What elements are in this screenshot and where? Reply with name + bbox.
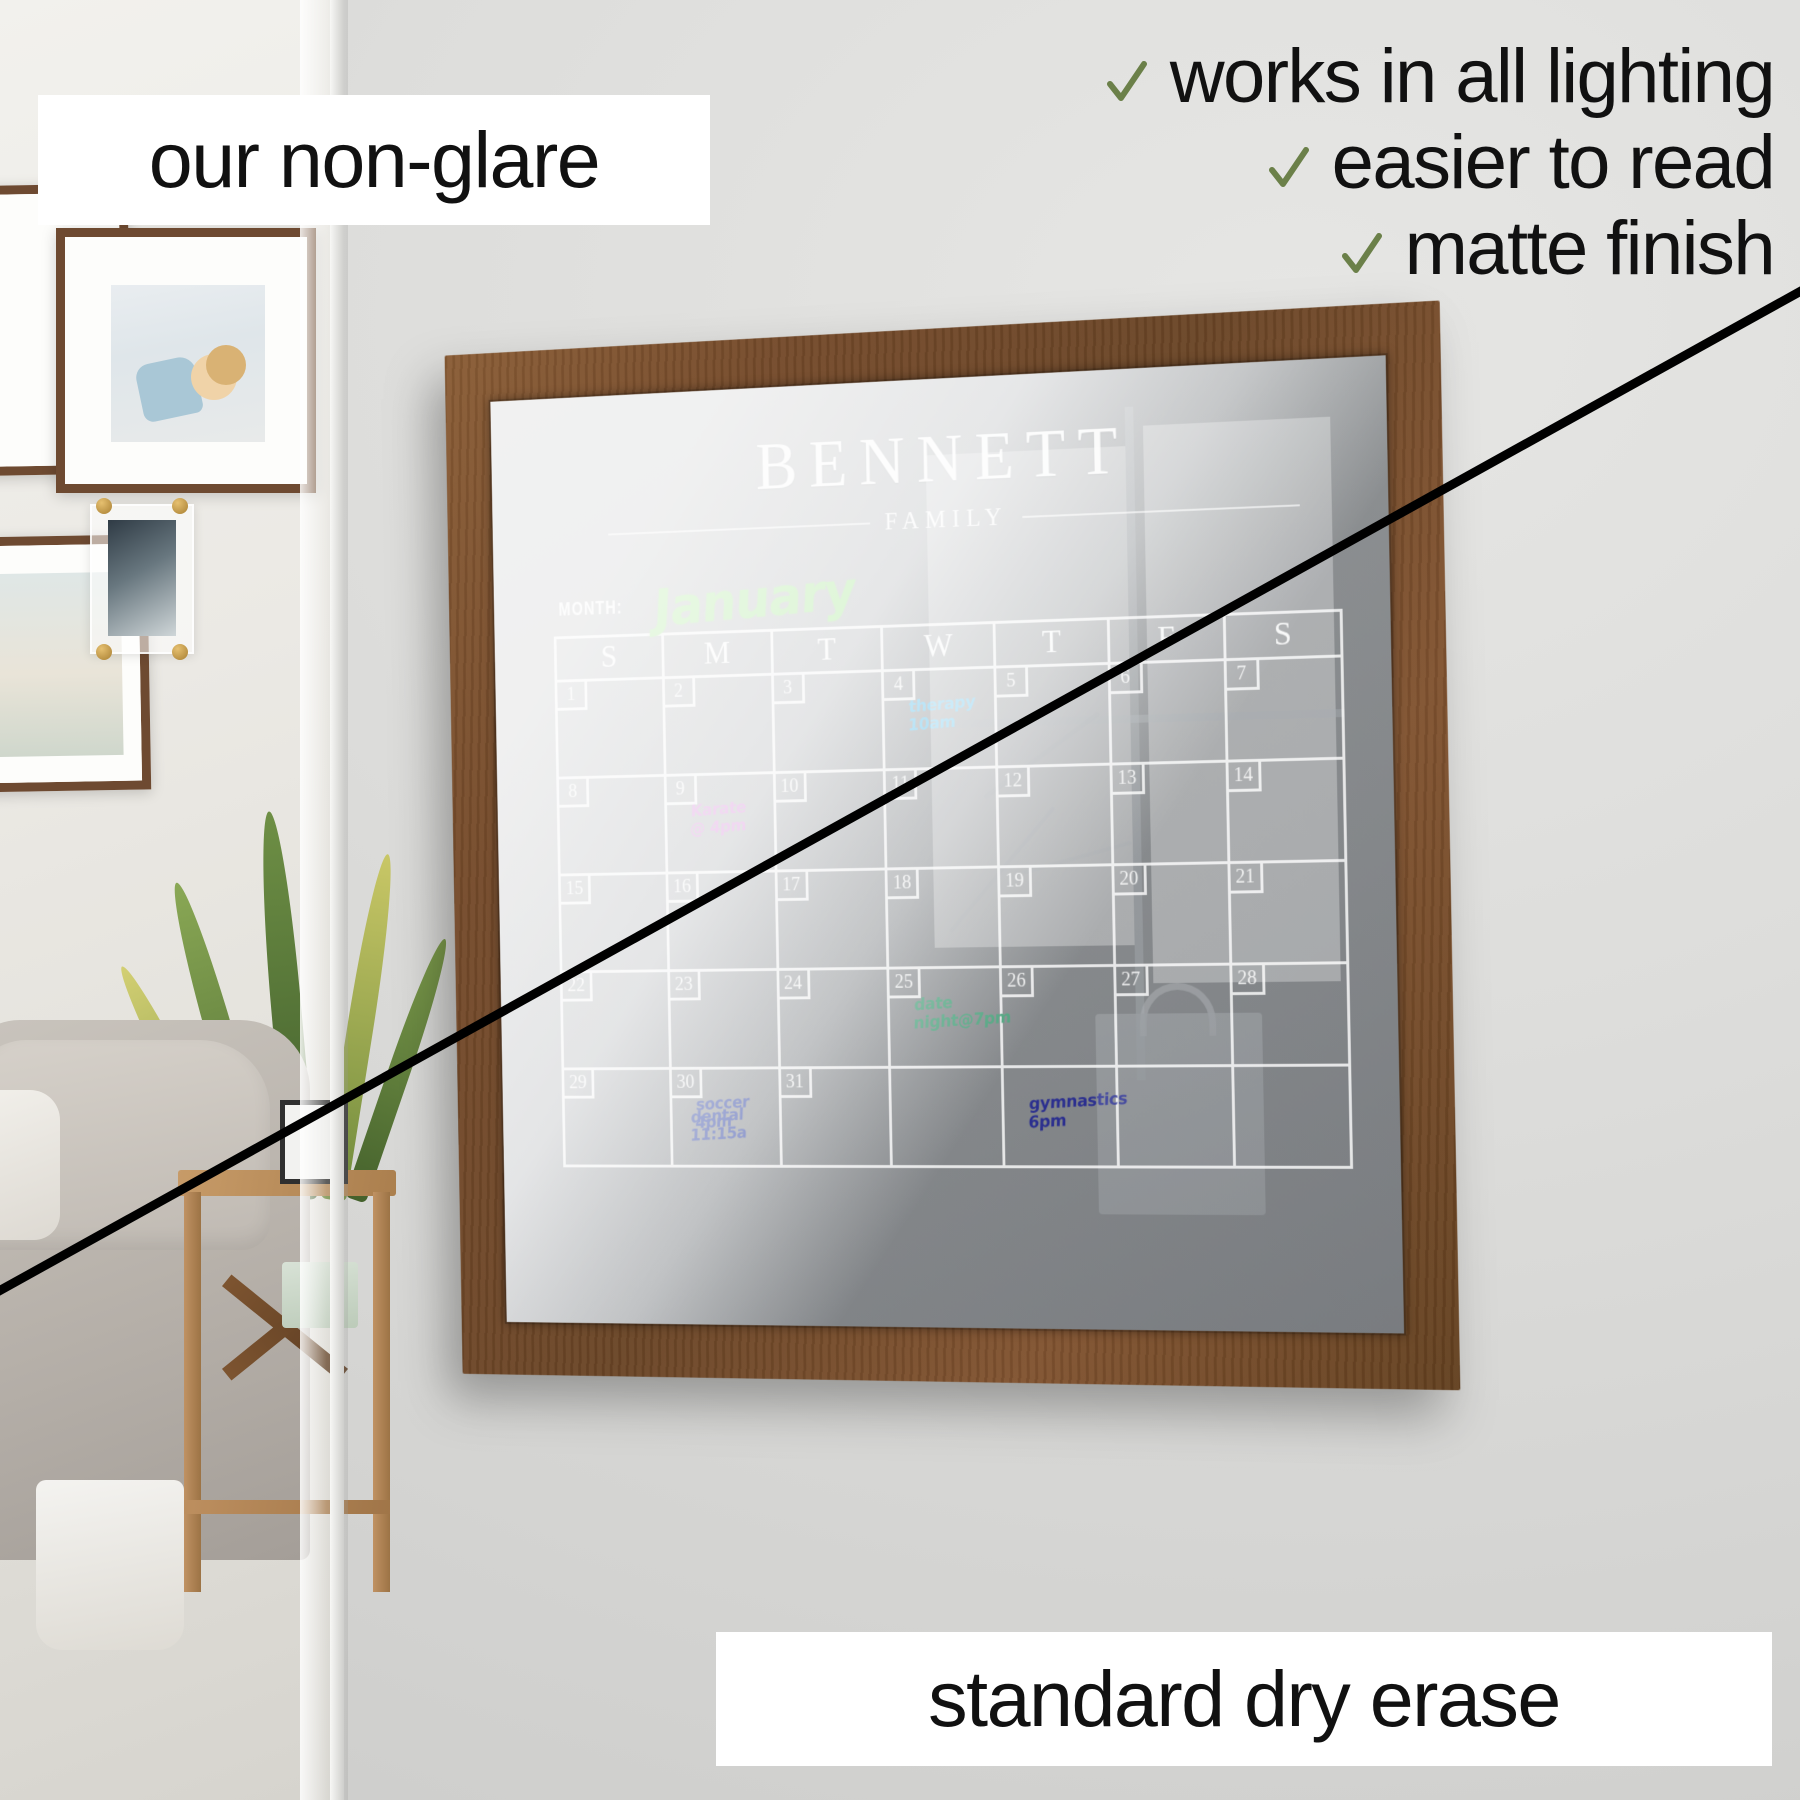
- day-number: 27: [1116, 967, 1149, 997]
- day-number: 22: [562, 973, 592, 1002]
- calendar-week-row: 2930soccer4pm31gymnastics6pm: [564, 1067, 1353, 1169]
- calendar-day-cell[interactable]: 26: [1002, 967, 1118, 1068]
- calendar-day-cell[interactable]: 27: [1116, 966, 1234, 1068]
- calendar-day-cell[interactable]: 16: [668, 873, 779, 973]
- day-of-week-1: M: [664, 632, 774, 679]
- month-label: MONTH:: [558, 597, 623, 631]
- gallery-frame-baby-photo: [56, 228, 316, 493]
- day-of-week-3: W: [883, 624, 996, 672]
- day-number: 17: [777, 872, 808, 901]
- handwritten-event-note: therapy10am: [908, 692, 995, 736]
- calendar-day-cell[interactable]: 25datenight@7pm: [889, 968, 1003, 1069]
- calendar-day-cell[interactable]: 10: [775, 771, 887, 872]
- day-of-week-0: S: [556, 636, 664, 683]
- calendar-day-cell[interactable]: 7: [1226, 658, 1346, 763]
- calendar-day-cell[interactable]: 24: [779, 970, 891, 1070]
- divider-rule-left: [608, 523, 870, 536]
- calendar-day-cell[interactable]: [1118, 1067, 1236, 1169]
- wood-frame: BENNETT FAMILY MONTH: January SMTWTFS 12…: [445, 300, 1461, 1390]
- day-number: 16: [668, 874, 699, 903]
- feature-bullet-text: easier to read: [1332, 122, 1774, 204]
- feature-bullet: easier to read: [1268, 122, 1774, 204]
- woven-basket: [36, 1480, 184, 1650]
- feature-bullet-list: works in all lightingeasier to readmatte…: [714, 36, 1774, 290]
- calendar-day-cell[interactable]: [891, 1068, 1005, 1168]
- day-number: 3: [773, 675, 804, 705]
- framed-calendar-product: BENNETT FAMILY MONTH: January SMTWTFS 12…: [370, 300, 1450, 1390]
- calendar-board-surface: BENNETT FAMILY MONTH: January SMTWTFS 12…: [490, 355, 1404, 1333]
- acrylic-floating-frame: [90, 504, 194, 654]
- day-number: 8: [559, 779, 589, 808]
- day-number: 18: [888, 870, 920, 899]
- day-number: 7: [1226, 660, 1259, 691]
- day-number: 31: [781, 1069, 812, 1098]
- day-number: 13: [1112, 765, 1145, 795]
- calendar-day-cell[interactable]: 19: [1000, 866, 1116, 968]
- day-number: 29: [564, 1070, 594, 1098]
- calendar-week-row: 89Karate@ 4pm1011121314: [559, 760, 1348, 877]
- day-number: 1: [557, 682, 587, 711]
- handwritten-event-note: Karate@ 4pm: [690, 797, 774, 840]
- calendar-grid: SMTWTFS 1234therapy10am56789Karate@ 4pm1…: [554, 609, 1354, 1169]
- throw-pillow: [0, 1090, 60, 1240]
- photo-subject-hair: [206, 345, 246, 385]
- calendar-week-row: 22232425datenight@7pm262728: [562, 964, 1351, 1070]
- calendar-day-cell[interactable]: 11: [886, 769, 1000, 871]
- feature-bullet-text: works in all lighting: [1170, 36, 1774, 118]
- handwritten-event-note: datenight@7pm: [914, 991, 1001, 1033]
- calendar-day-cell[interactable]: 9Karate@ 4pm: [666, 774, 777, 874]
- handwritten-event-note: dental11:15a: [690, 1106, 748, 1146]
- day-number: 14: [1228, 762, 1261, 792]
- day-of-week-5: F: [1110, 616, 1227, 665]
- wall-corner-highlight: [330, 0, 344, 1800]
- day-number: 12: [998, 768, 1030, 798]
- calendar-day-cell[interactable]: 4therapy10am: [884, 669, 998, 772]
- day-number: 6: [1110, 664, 1143, 694]
- day-number: 28: [1232, 965, 1265, 995]
- calendar-day-cell[interactable]: 14: [1228, 760, 1348, 864]
- calendar-day-cell[interactable]: 23: [670, 971, 781, 1070]
- handwritten-event-note: gymnastics6pm: [1028, 1091, 1116, 1133]
- top-label-text: our non-glare: [149, 114, 599, 206]
- day-number: 15: [561, 876, 591, 905]
- day-number: 21: [1230, 864, 1263, 894]
- day-number: 20: [1114, 866, 1147, 896]
- calendar-day-cell[interactable]: 6: [1110, 661, 1228, 765]
- calendar-day-cell[interactable]: 12: [998, 766, 1114, 869]
- calendar-day-cell[interactable]: 22: [562, 972, 671, 1070]
- calendar-day-cell[interactable]: [1234, 1067, 1354, 1169]
- check-icon: [1268, 140, 1310, 188]
- feature-bullet-text: matte finish: [1405, 208, 1774, 290]
- check-icon: [1341, 226, 1383, 274]
- top-label-banner: our non-glare: [38, 95, 710, 225]
- day-number: 2: [665, 678, 696, 707]
- calendar-day-cell[interactable]: 21: [1230, 862, 1350, 966]
- calendar-day-cell[interactable]: 1: [557, 679, 666, 779]
- day-number: 11: [886, 771, 918, 801]
- day-number: 26: [1002, 968, 1034, 997]
- calendar-day-cell[interactable]: 3: [773, 672, 885, 774]
- calendar-day-cell[interactable]: 15: [561, 875, 670, 974]
- feature-bullet: works in all lighting: [1106, 36, 1774, 118]
- calendar-day-cell[interactable]: 29: [564, 1070, 673, 1168]
- check-icon: [1106, 54, 1148, 102]
- calendar-day-cell[interactable]: gymnastics6pm: [1004, 1068, 1120, 1169]
- calendar-day-cell[interactable]: 5: [996, 665, 1112, 769]
- calendar-week-row: 15161718192021: [561, 862, 1350, 973]
- day-number: 25: [889, 969, 921, 998]
- bottom-label-text: standard dry erase: [928, 1653, 1560, 1745]
- side-table: [178, 1170, 396, 1600]
- calendar-day-cell[interactable]: 18: [888, 868, 1002, 969]
- day-number: 23: [670, 972, 701, 1001]
- calendar-day-cell[interactable]: 28: [1232, 964, 1352, 1067]
- calendar-day-cell[interactable]: 17: [777, 871, 889, 971]
- calendar-day-cell[interactable]: 8: [559, 777, 668, 877]
- day-of-week-6: S: [1225, 612, 1343, 661]
- divider-rule-right: [1023, 504, 1300, 518]
- month-value-handwritten: January: [652, 565, 856, 633]
- calendar-print: BENNETT FAMILY MONTH: January SMTWTFS 12…: [550, 402, 1356, 1294]
- bottom-label-banner: standard dry erase: [716, 1632, 1772, 1766]
- feature-bullet: matte finish: [1341, 208, 1774, 290]
- calendar-day-cell[interactable]: 2: [665, 676, 776, 777]
- day-number: 24: [779, 971, 810, 1000]
- day-of-week-4: T: [996, 620, 1111, 669]
- calendar-day-cell[interactable]: 31: [781, 1069, 894, 1168]
- day-number: 10: [775, 773, 806, 802]
- calendar-day-cell[interactable]: 20: [1114, 864, 1232, 967]
- calendar-day-cell[interactable]: 13: [1112, 763, 1230, 867]
- day-number: 19: [1000, 868, 1032, 898]
- day-number: 30: [672, 1070, 703, 1099]
- calendar-week-rows: 1234therapy10am56789Karate@ 4pm101112131…: [557, 658, 1353, 1170]
- day-of-week-2: T: [773, 628, 884, 676]
- family-subheading: FAMILY: [884, 504, 1008, 536]
- day-number: 5: [996, 668, 1028, 698]
